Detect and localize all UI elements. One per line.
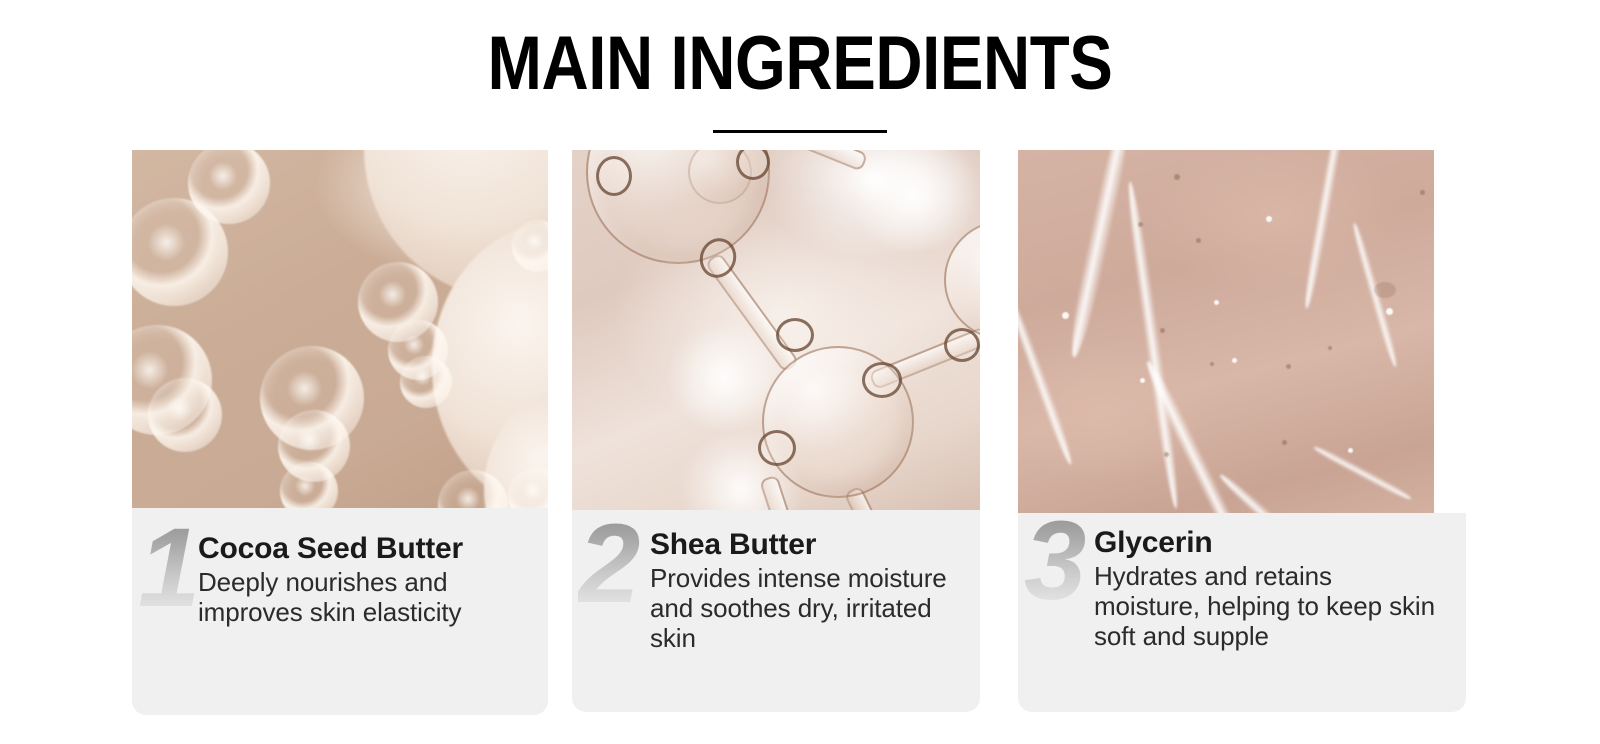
ingredient-number-1: 1 [138, 512, 200, 624]
ingredient-heading-1: Cocoa Seed Butter [198, 532, 538, 566]
ingredient-text-3: Glycerin Hydrates and retains moisture, … [1094, 526, 1444, 651]
ingredient-card-2[interactable]: 2 Shea Butter Provides intense moisture … [572, 150, 980, 712]
ingredient-text-1: Cocoa Seed Butter Deeply nourishes and i… [198, 532, 538, 627]
ingredient-photo-3 [1018, 150, 1434, 513]
ingredient-text-2: Shea Butter Provides intense moisture an… [650, 528, 975, 653]
ingredient-number-3: 3 [1024, 505, 1086, 617]
ingredient-heading-2: Shea Butter [650, 528, 975, 562]
ingredient-card-3[interactable]: 3 Glycerin Hydrates and retains moisture… [1018, 150, 1466, 712]
ingredient-card-1[interactable]: 1 Cocoa Seed Butter Deeply nourishes and… [132, 150, 548, 715]
ingredient-photo-1 [132, 150, 548, 508]
ingredient-description-3: Hydrates and retains moisture, helping t… [1094, 561, 1444, 651]
ingredient-heading-3: Glycerin [1094, 526, 1444, 560]
ingredient-description-2: Provides intense moisture and soothes dr… [650, 563, 975, 653]
ingredient-description-1: Deeply nourishes and improves skin elast… [198, 567, 538, 627]
ingredient-photo-2 [572, 150, 980, 510]
page-header: MAIN INGREDIENTS [0, 0, 1600, 150]
ingredient-number-2: 2 [578, 508, 640, 620]
page-title: MAIN INGREDIENTS [112, 24, 1488, 104]
title-divider [713, 130, 887, 133]
